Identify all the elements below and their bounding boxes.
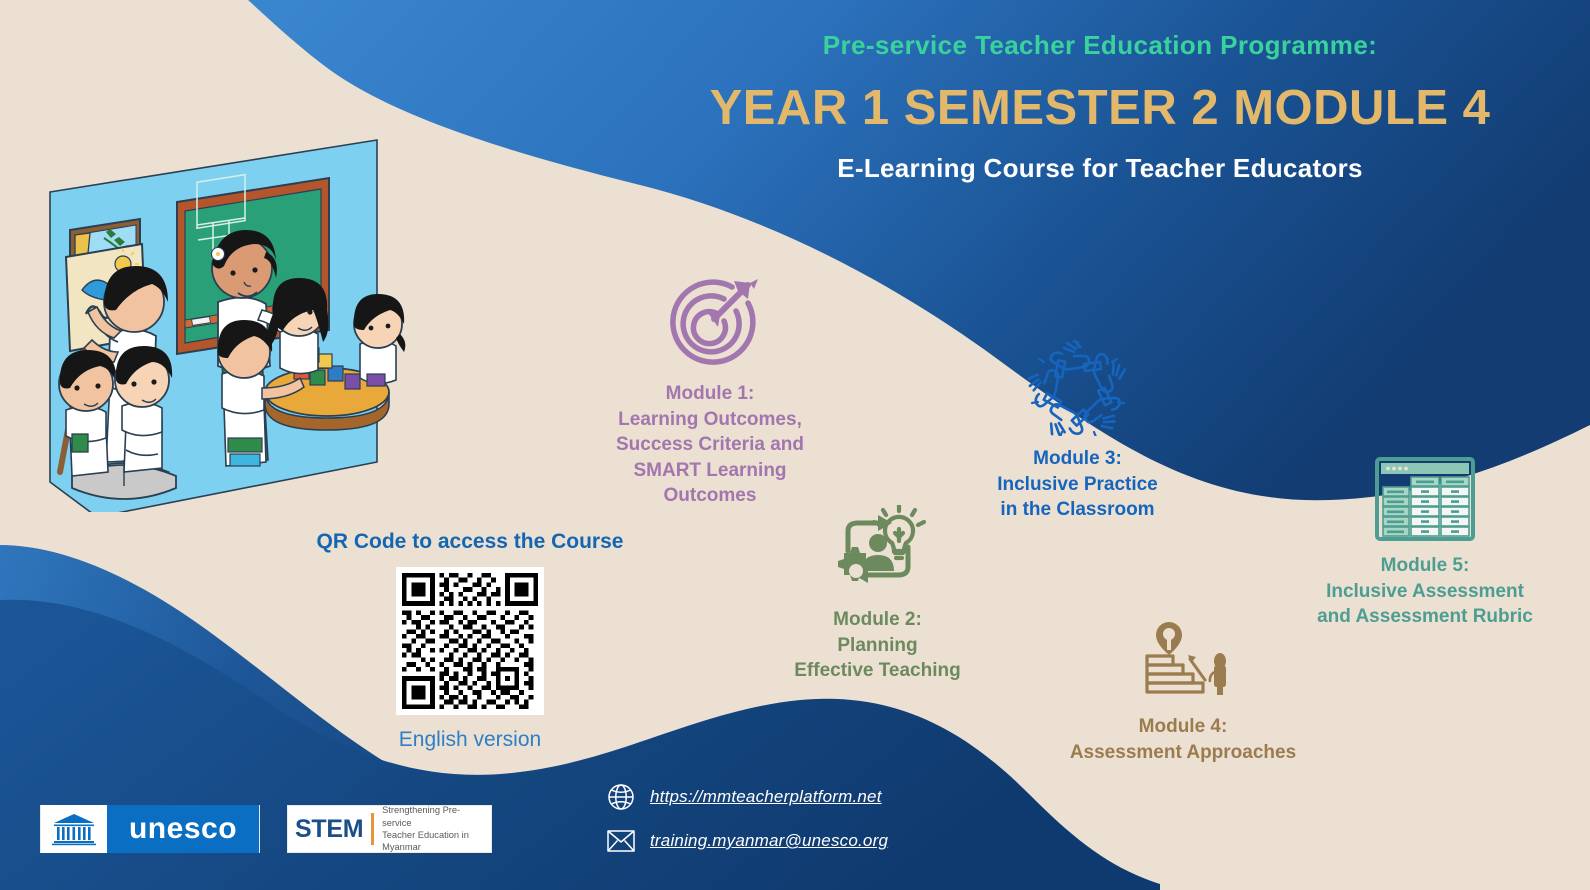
planning-gear-lightbulb-icon bbox=[826, 505, 930, 597]
module-4-item[interactable]: Module 4: Assessment Approaches bbox=[1058, 618, 1308, 765]
unesco-temple-icon bbox=[41, 805, 107, 853]
joined-hands-circle-icon bbox=[1028, 340, 1128, 436]
target-arrow-icon bbox=[662, 275, 758, 371]
qr-title: QR Code to access the Course bbox=[300, 530, 640, 554]
qr-code-image[interactable] bbox=[396, 567, 544, 715]
module-2-item[interactable]: Module 2: Planning Effective Teaching bbox=[755, 505, 1000, 684]
stairs-goal-person-icon bbox=[1133, 618, 1233, 704]
email-row[interactable]: training.myanmar@unesco.org bbox=[600, 819, 888, 863]
module-1-item[interactable]: Module 1: Learning Outcomes, Success Cri… bbox=[585, 275, 835, 509]
programme-kicker: Pre-service Teacher Education Programme: bbox=[640, 30, 1560, 61]
page-title: YEAR 1 SEMESTER 2 MODULE 4 bbox=[640, 80, 1560, 136]
envelope-icon bbox=[600, 830, 642, 852]
page-subtitle: E-Learning Course for Teacher Educators bbox=[640, 153, 1560, 184]
globe-icon bbox=[600, 783, 642, 811]
module-5-item[interactable]: Module 5: Inclusive Assessment and Asses… bbox=[1300, 455, 1550, 630]
qr-caption: English version bbox=[300, 728, 640, 752]
stem-tagline: Strengthening Pre-service Teacher Educat… bbox=[382, 804, 484, 853]
rubric-table-icon bbox=[1373, 455, 1477, 543]
module-1-label: Module 1: Learning Outcomes, Success Cri… bbox=[585, 381, 835, 509]
website-row[interactable]: https://mmteacherplatform.net bbox=[600, 775, 888, 819]
unesco-wordmark: unesco bbox=[107, 805, 259, 853]
module-3-item[interactable]: Module 3: Inclusive Practice in the Clas… bbox=[965, 340, 1190, 523]
email-link[interactable]: training.myanmar@unesco.org bbox=[650, 831, 888, 851]
unesco-logo: unesco bbox=[40, 805, 260, 853]
logo-row: unesco STEM Strengthening Pre-service Te… bbox=[40, 805, 492, 853]
website-link[interactable]: https://mmteacherplatform.net bbox=[650, 787, 882, 807]
qr-block: QR Code to access the Course bbox=[300, 530, 640, 752]
module-5-label: Module 5: Inclusive Assessment and Asses… bbox=[1300, 553, 1550, 630]
poster-root: Pre-service Teacher Education Programme:… bbox=[0, 0, 1590, 890]
module-2-label: Module 2: Planning Effective Teaching bbox=[755, 607, 1000, 684]
contact-block: https://mmteacherplatform.net training.m… bbox=[600, 775, 888, 863]
module-3-label: Module 3: Inclusive Practice in the Clas… bbox=[965, 446, 1190, 523]
stem-divider bbox=[371, 813, 374, 845]
classroom-children-illustration bbox=[22, 62, 422, 512]
stem-logo: STEM Strengthening Pre-service Teacher E… bbox=[287, 805, 492, 853]
stem-wordmark: STEM bbox=[295, 815, 363, 844]
module-4-label: Module 4: Assessment Approaches bbox=[1058, 714, 1308, 765]
